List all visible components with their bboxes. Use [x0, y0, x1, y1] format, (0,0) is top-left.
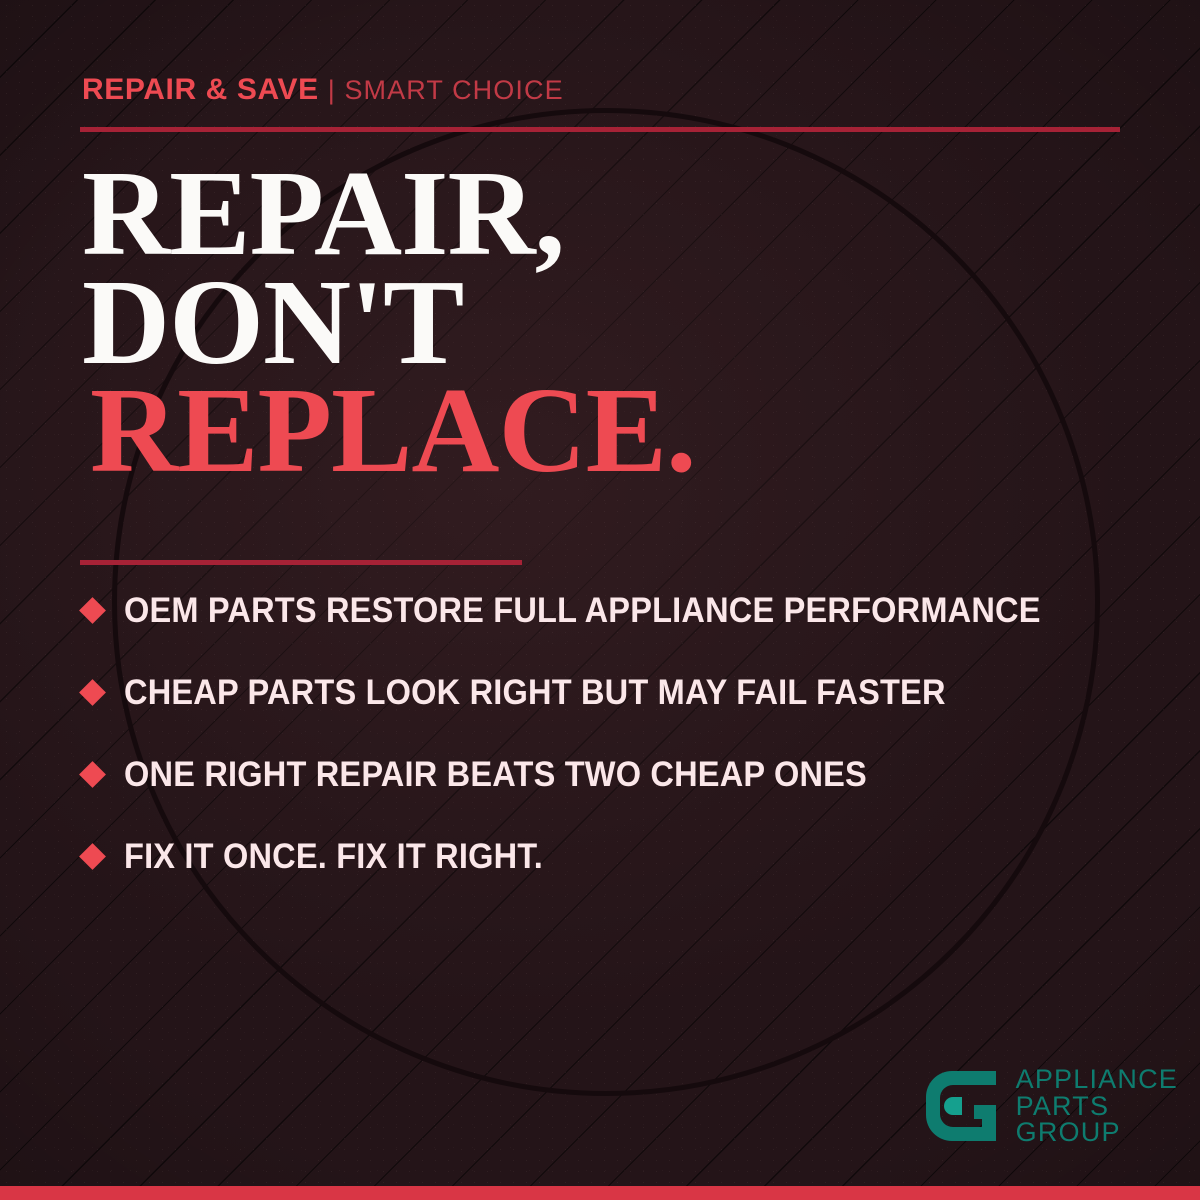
list-item-label: OEM PARTS RESTORE FULL APPLIANCE PERFORM…	[124, 593, 1041, 628]
brand-word-line-1: APPLIANCE	[1016, 1066, 1178, 1093]
promo-poster: REPAIR & SAVE| SMART CHOICE REPAIR, DON'…	[0, 0, 1200, 1200]
headline-line-1: REPAIR,	[82, 160, 1082, 269]
list-item: OEM PARTS RESTORE FULL APPLIANCE PERFORM…	[80, 586, 1160, 635]
brand-word-line-2: PARTS	[1016, 1093, 1178, 1120]
brand-word-line-3: GROUP	[1016, 1119, 1178, 1146]
diamond-bullet-icon	[79, 597, 106, 624]
kicker-strong-text: REPAIR & SAVE	[82, 73, 319, 106]
diamond-bullet-icon	[79, 679, 106, 706]
list-item: ONE RIGHT REPAIR BEATS TWO CHEAP ONES	[80, 750, 1160, 799]
page-title: REPAIR, DON'T REPLACE.	[82, 160, 1082, 486]
list-item: FIX IT ONCE. FIX IT RIGHT.	[80, 832, 1160, 881]
headline-line-2: DON'T	[82, 269, 1082, 378]
kicker-light-text: | SMART CHOICE	[328, 75, 564, 105]
kicker-divider-rule	[80, 127, 1120, 132]
list-item-label: ONE RIGHT REPAIR BEATS TWO CHEAP ONES	[124, 757, 867, 792]
list-item: CHEAP PARTS LOOK RIGHT BUT MAY FAIL FAST…	[80, 668, 1160, 717]
headline-line-3: REPLACE.	[82, 377, 1082, 486]
diamond-bullet-icon	[79, 761, 106, 788]
list-item-label: FIX IT ONCE. FIX IT RIGHT.	[124, 839, 543, 874]
diamond-bullet-icon	[79, 843, 106, 870]
list-item-label: CHEAP PARTS LOOK RIGHT BUT MAY FAIL FAST…	[124, 675, 946, 710]
kicker: REPAIR & SAVE| SMART CHOICE	[82, 75, 564, 105]
headline-divider-rule	[80, 560, 522, 565]
brand-wordmark: APPLIANCE PARTS GROUP	[1016, 1066, 1178, 1146]
benefits-list: OEM PARTS RESTORE FULL APPLIANCE PERFORM…	[80, 586, 1160, 914]
letter-g-mark-icon	[922, 1067, 1000, 1145]
brand-logo: APPLIANCE PARTS GROUP	[922, 1066, 1178, 1146]
bottom-accent-bar	[0, 1186, 1200, 1200]
